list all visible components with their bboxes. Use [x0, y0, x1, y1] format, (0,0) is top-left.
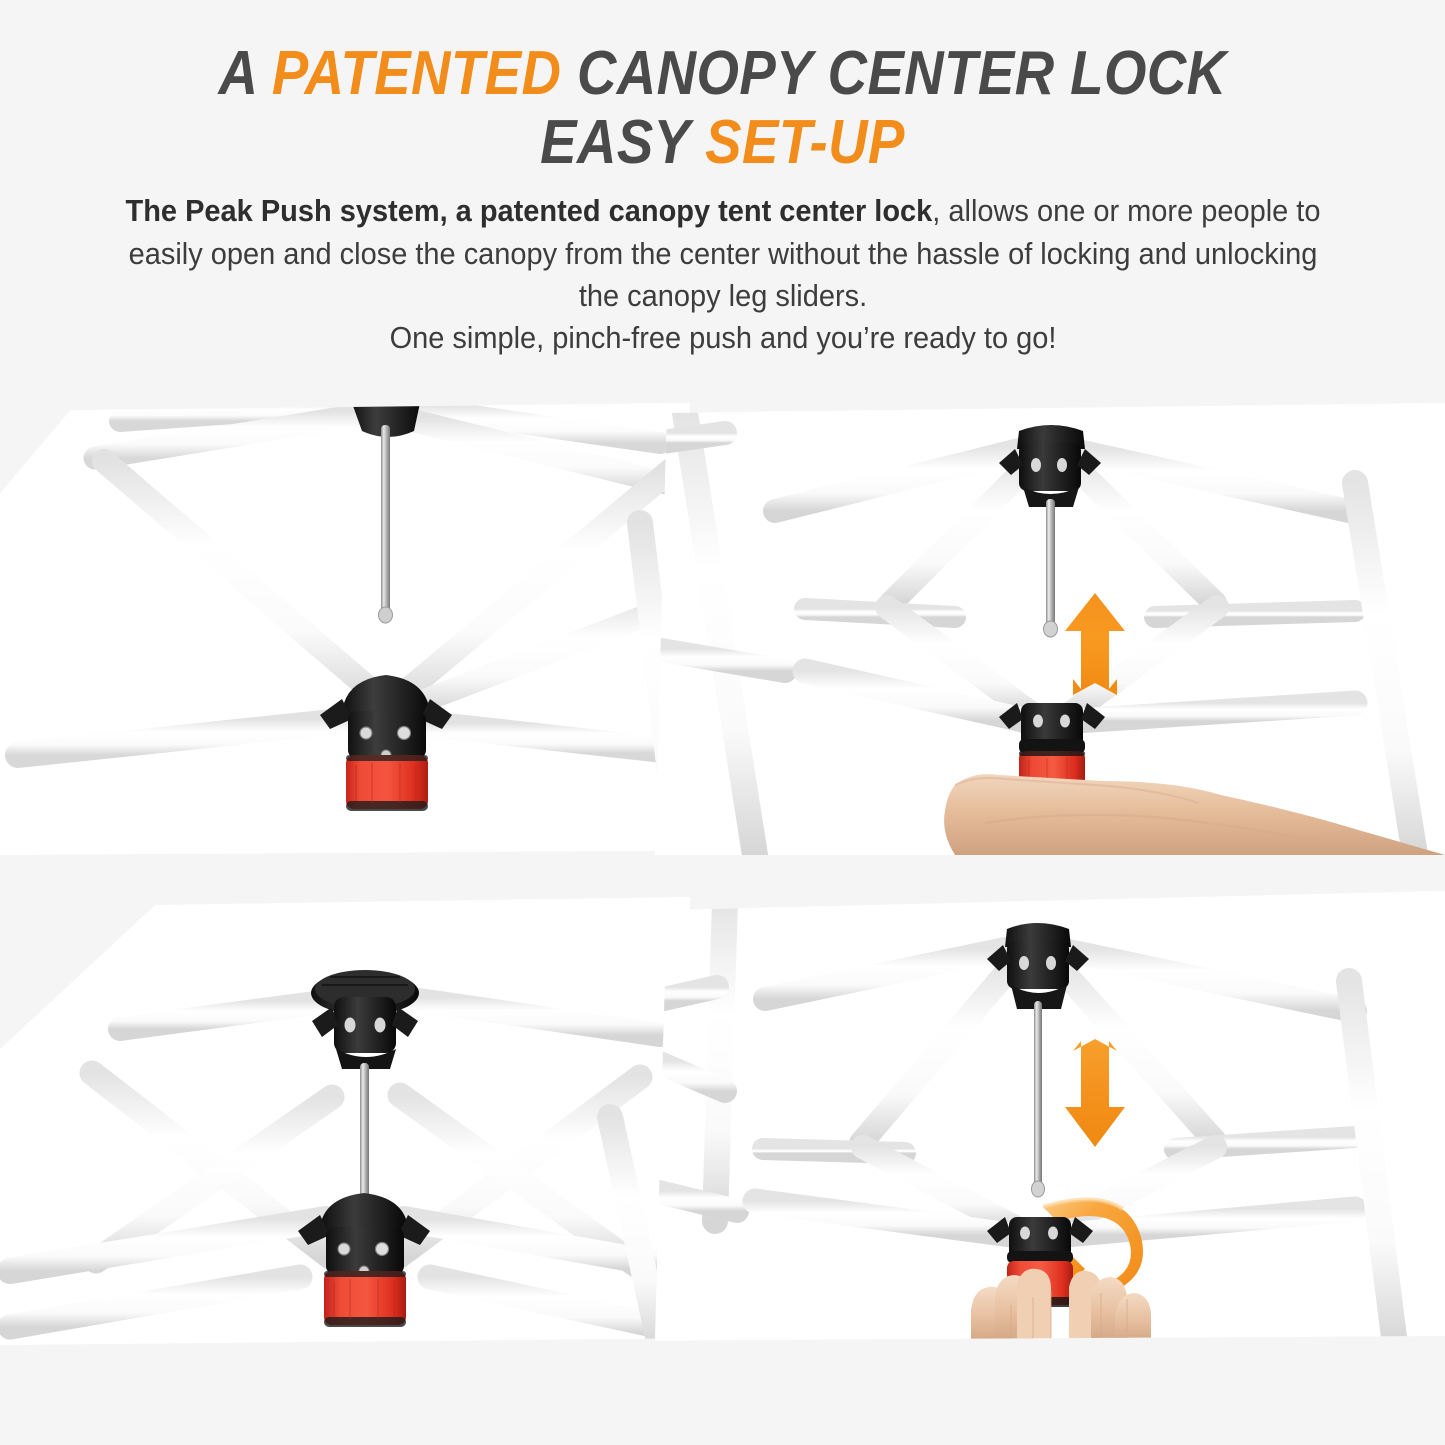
headline-l1-part1: A	[218, 39, 271, 108]
headline-line-1: A PATENTED CANOPY CENTER LOCK	[87, 42, 1359, 105]
headline-l1-highlight: PATENTED	[272, 39, 561, 108]
headline-l2-highlight: SET-UP	[705, 108, 905, 177]
panel-top-left	[0, 403, 690, 855]
description-final-line: One simple, pinch-free push and you’re r…	[105, 317, 1340, 359]
headline-l1-part3: CANOPY CENTER LOCK	[561, 39, 1226, 108]
panel-top-right	[655, 403, 1445, 855]
description-paragraph: The Peak Push system, a patented canopy …	[105, 190, 1340, 316]
frame-collapsed-illustration	[0, 403, 690, 855]
hand-push-up-illustration	[655, 403, 1445, 855]
frame-extended-illustration	[0, 897, 690, 1345]
description-bold-lead: The Peak Push system, a patented canopy …	[125, 194, 932, 228]
two-hands-twist-illustration	[655, 891, 1445, 1345]
panel-bottom-left	[0, 897, 690, 1345]
description-block: The Peak Push system, a patented canopy …	[105, 190, 1340, 358]
panel-bottom-right	[655, 891, 1445, 1345]
headline-l2-part1: EASY	[540, 108, 705, 177]
photo-grid	[0, 403, 1445, 1345]
headline-line-2: EASY SET-UP	[87, 111, 1359, 174]
headline-block: A PATENTED CANOPY CENTER LOCK EASY SET-U…	[0, 0, 1445, 174]
